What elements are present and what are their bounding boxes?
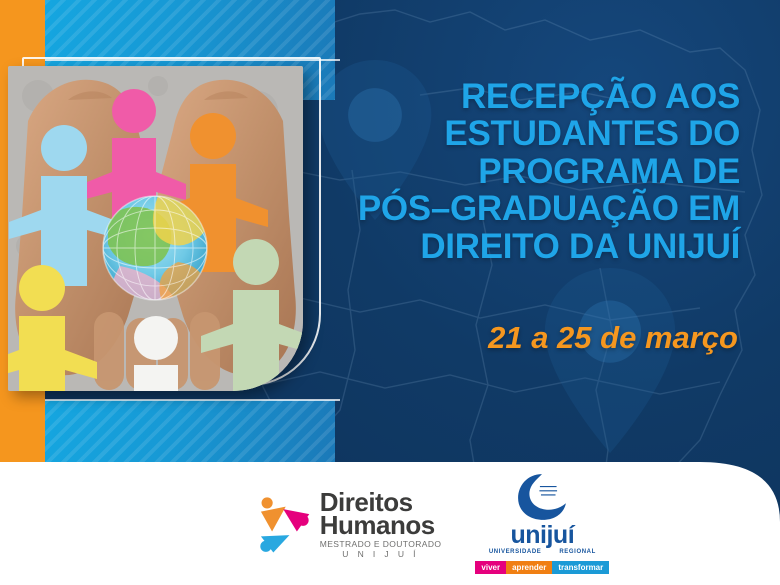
event-banner: RECEPÇÃO AOS ESTUDANTES DO PROGRAMA DE P… — [0, 0, 780, 585]
tagline-aprender: aprender — [506, 561, 552, 574]
unijui-wordmark: unijuí — [511, 523, 575, 548]
logo-row: Direitos Humanos MESTRADO E DOUTORADO U … — [0, 462, 780, 585]
title-line-1: RECEPÇÃO AOS — [310, 78, 740, 115]
unijui-sub-right: REGIONAL — [559, 549, 595, 555]
direitos-humanos-wordmark: Direitos Humanos MESTRADO E DOUTORADO U … — [320, 489, 442, 558]
unijui-swoosh-icon — [516, 473, 568, 521]
title-line-3: PROGRAMA DE — [310, 153, 740, 190]
title-line-5: DIREITO DA UNIJUÍ — [310, 228, 740, 265]
hero-photo — [8, 66, 303, 391]
dh-institution: U N I J U Í — [320, 550, 442, 559]
people-mark-icon — [251, 493, 313, 555]
page-title: RECEPÇÃO AOS ESTUDANTES DO PROGRAMA DE P… — [310, 78, 740, 265]
title-line-2: ESTUDANTES DO — [310, 115, 740, 152]
direitos-humanos-logo: Direitos Humanos MESTRADO E DOUTORADO U … — [251, 489, 442, 558]
divider-line-top — [0, 59, 340, 61]
tagline-viver: viver — [475, 561, 506, 574]
dh-word-humanos: Humanos — [320, 512, 442, 538]
divider-line-bottom — [0, 399, 340, 401]
unijui-sub-left: UNIVERSIDADE — [489, 549, 542, 555]
title-line-4: PÓS–GRADUAÇÃO EM — [310, 190, 740, 227]
lightblue-panel-bottom — [45, 400, 335, 462]
dh-subtitle: MESTRADO E DOUTORADO — [320, 540, 442, 549]
unijui-subtitle: UNIVERSIDADE REGIONAL — [489, 549, 596, 555]
unijui-tagline-bar: viver aprender transformar — [475, 561, 609, 574]
unijui-logo: unijuí UNIVERSIDADE REGIONAL viver apren… — [475, 473, 609, 574]
map-pin-icon — [535, 268, 685, 453]
tagline-transformar: transformar — [552, 561, 609, 574]
event-date: 21 a 25 de março — [308, 320, 738, 356]
